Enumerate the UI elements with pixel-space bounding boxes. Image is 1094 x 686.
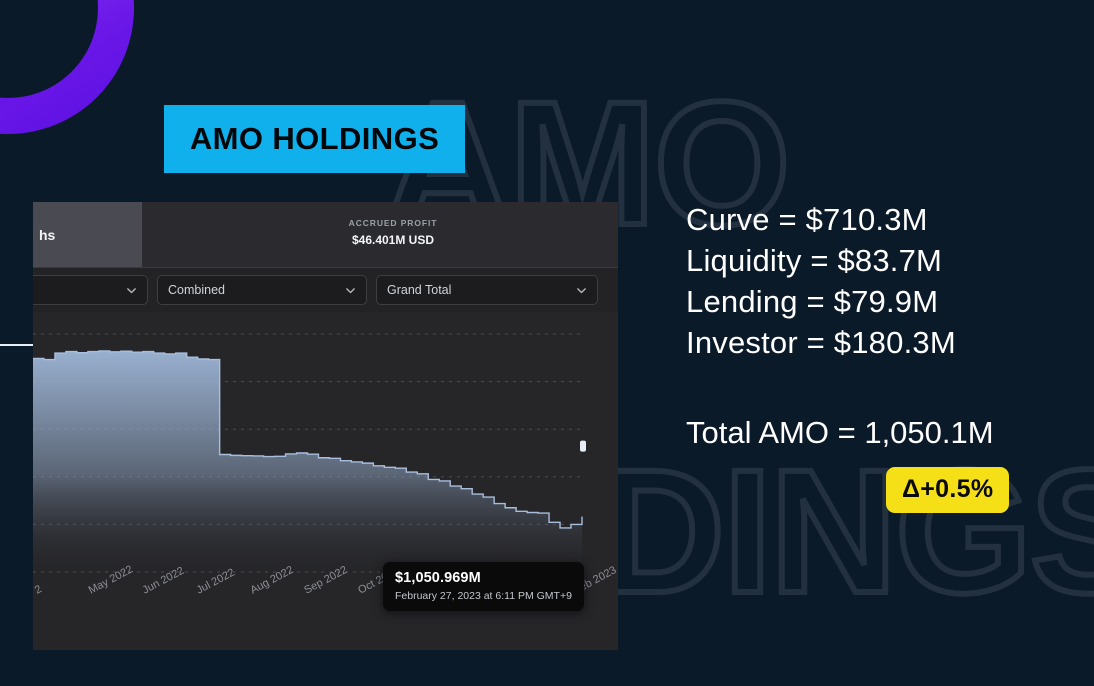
delta-badge: Δ+0.5% — [886, 467, 1009, 513]
range-dropdown[interactable] — [33, 275, 148, 305]
app-tab-label: hs — [39, 227, 55, 243]
chart-tooltip: $1,050.969M February 27, 2023 at 6:11 PM… — [383, 562, 584, 611]
chevron-down-icon — [126, 285, 137, 296]
accrued-profit-value: $46.401M USD — [303, 233, 483, 247]
page-title: AMO HOLDINGS — [164, 105, 465, 173]
svg-text:2: 2 — [33, 583, 44, 596]
grand-total-dropdown[interactable]: Grand Total — [376, 275, 598, 305]
tooltip-value: $1,050.969M — [395, 570, 572, 586]
purple-arc — [0, 0, 134, 134]
stat-line-lending: Lending = $79.9M — [686, 281, 956, 322]
accrued-profit-label: ACCRUED PROFIT — [303, 218, 483, 228]
app-tab[interactable]: hs — [33, 202, 142, 267]
stat-line-curve: Curve = $710.3M — [686, 199, 956, 240]
stat-line-liquidity: Liquidity = $83.7M — [686, 240, 956, 281]
page-title-label: AMO HOLDINGS — [190, 121, 439, 157]
accrued-profit-stat: ACCRUED PROFIT $46.401M USD — [303, 218, 483, 247]
combined-dropdown[interactable]: Combined — [157, 275, 367, 305]
app-panel: hs ACCRUED PROFIT $46.401M USD Combined … — [33, 202, 618, 650]
stat-line-investor: Investor = $180.3M — [686, 322, 956, 363]
tooltip-date: February 27, 2023 at 6:11 PM GMT+9 — [395, 590, 572, 602]
chevron-down-icon — [576, 285, 587, 296]
filter-row: Combined Grand Total — [33, 268, 618, 312]
left-rule — [0, 344, 34, 346]
holdings-breakdown: Curve = $710.3M Liquidity = $83.7M Lendi… — [686, 199, 956, 363]
watermark-line-2: DINGS — [598, 452, 1094, 614]
total-amo-line: Total AMO = 1,050.1M — [686, 412, 994, 453]
combined-dropdown-value: Combined — [168, 283, 225, 297]
chart-area[interactable]: 2May 2022Jun 2022Jul 2022Aug 2022Sep 202… — [33, 312, 618, 650]
grand-total-dropdown-value: Grand Total — [387, 283, 451, 297]
chevron-down-icon — [345, 285, 356, 296]
app-header: hs ACCRUED PROFIT $46.401M USD — [33, 202, 618, 268]
